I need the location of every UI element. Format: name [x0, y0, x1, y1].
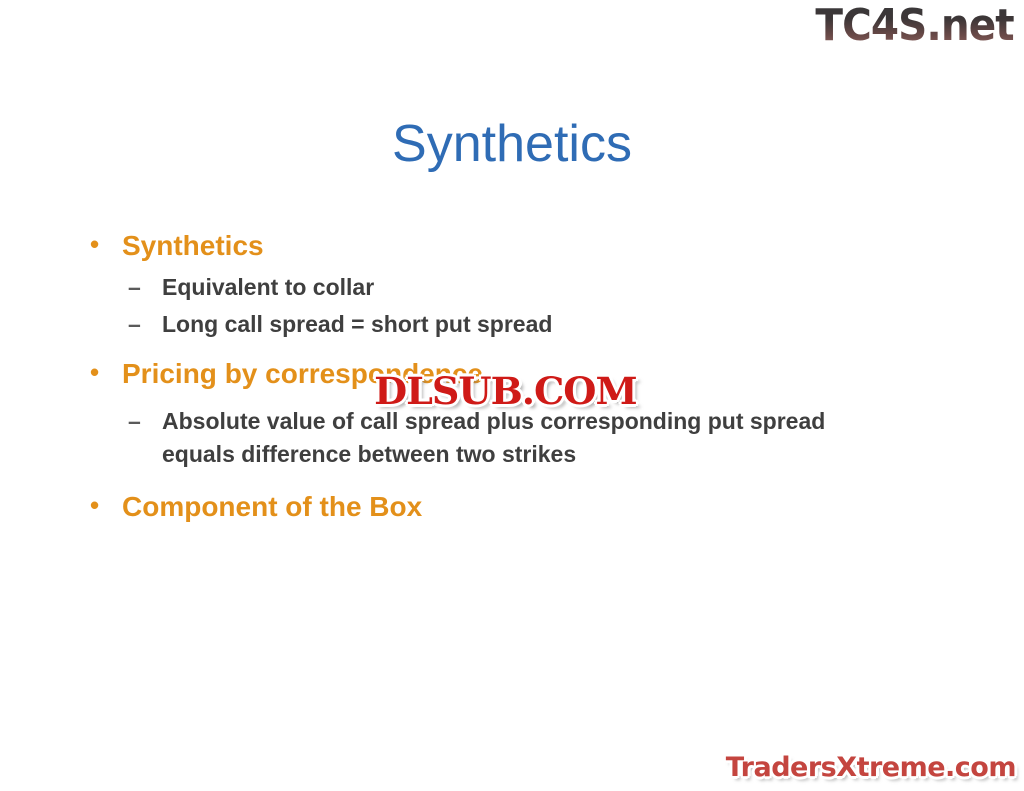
sub-bullet-label: Equivalent to collar: [162, 271, 968, 304]
bullet-component-of-the-box: • Component of the Box: [78, 489, 968, 526]
bullet-label: Component of the Box: [122, 491, 422, 522]
tc4s-logo: TC4S.net: [814, 0, 1016, 52]
sub-bullet-equivalent-to-collar: – Equivalent to collar: [78, 271, 968, 304]
sub-bullet-label-line2: equals difference between two strikes: [162, 438, 968, 471]
dlsub-watermark: DLSUB.COM: [371, 371, 640, 412]
sub-bullet-label: Long call spread = short put spread: [162, 308, 968, 341]
dash-marker-icon: –: [128, 405, 141, 438]
bullet-label: Synthetics: [122, 230, 264, 261]
dash-marker-icon: –: [128, 271, 141, 304]
bullet-synthetics: • Synthetics: [78, 228, 968, 265]
tradersxtreme-watermark: TradersXtreme.com: [726, 753, 1016, 783]
dash-marker-icon: –: [128, 308, 141, 341]
sub-bullet-long-call-spread: – Long call spread = short put spread: [78, 308, 968, 341]
bullet-marker-icon: •: [90, 355, 99, 389]
sub-bullet-absolute-value: – Absolute value of call spread plus cor…: [78, 405, 968, 470]
bullet-marker-icon: •: [90, 227, 99, 261]
bullet-marker-icon: •: [90, 488, 99, 522]
presentation-slide: TC4S.net Synthetics • Synthetics – Equiv…: [0, 0, 1024, 791]
page-title: Synthetics: [0, 116, 1024, 173]
